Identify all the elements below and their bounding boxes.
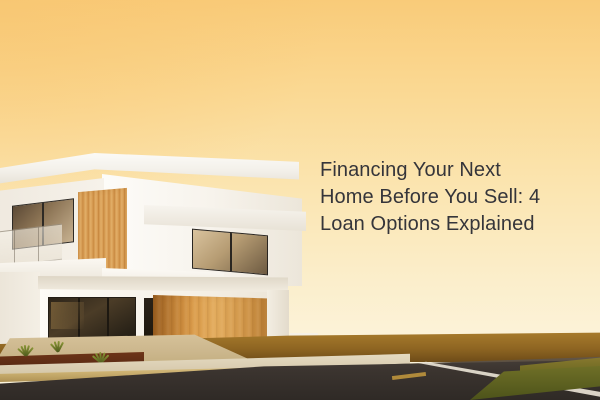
headline-line-1: Financing Your Next (320, 157, 582, 184)
page-title: Financing Your Next Home Before You Sell… (320, 157, 582, 238)
agave-plant (46, 340, 68, 352)
headline-line-3: Loan Options Explained (320, 211, 582, 238)
headline-line-2: Home Before You Sell: 4 (320, 184, 582, 211)
agave-plant (88, 350, 112, 363)
article-hero-banner: Financing Your Next Home Before You Sell… (0, 0, 600, 400)
agave-plant (14, 344, 36, 356)
modern-house-photo (0, 150, 324, 365)
upper-right-window (192, 229, 268, 276)
